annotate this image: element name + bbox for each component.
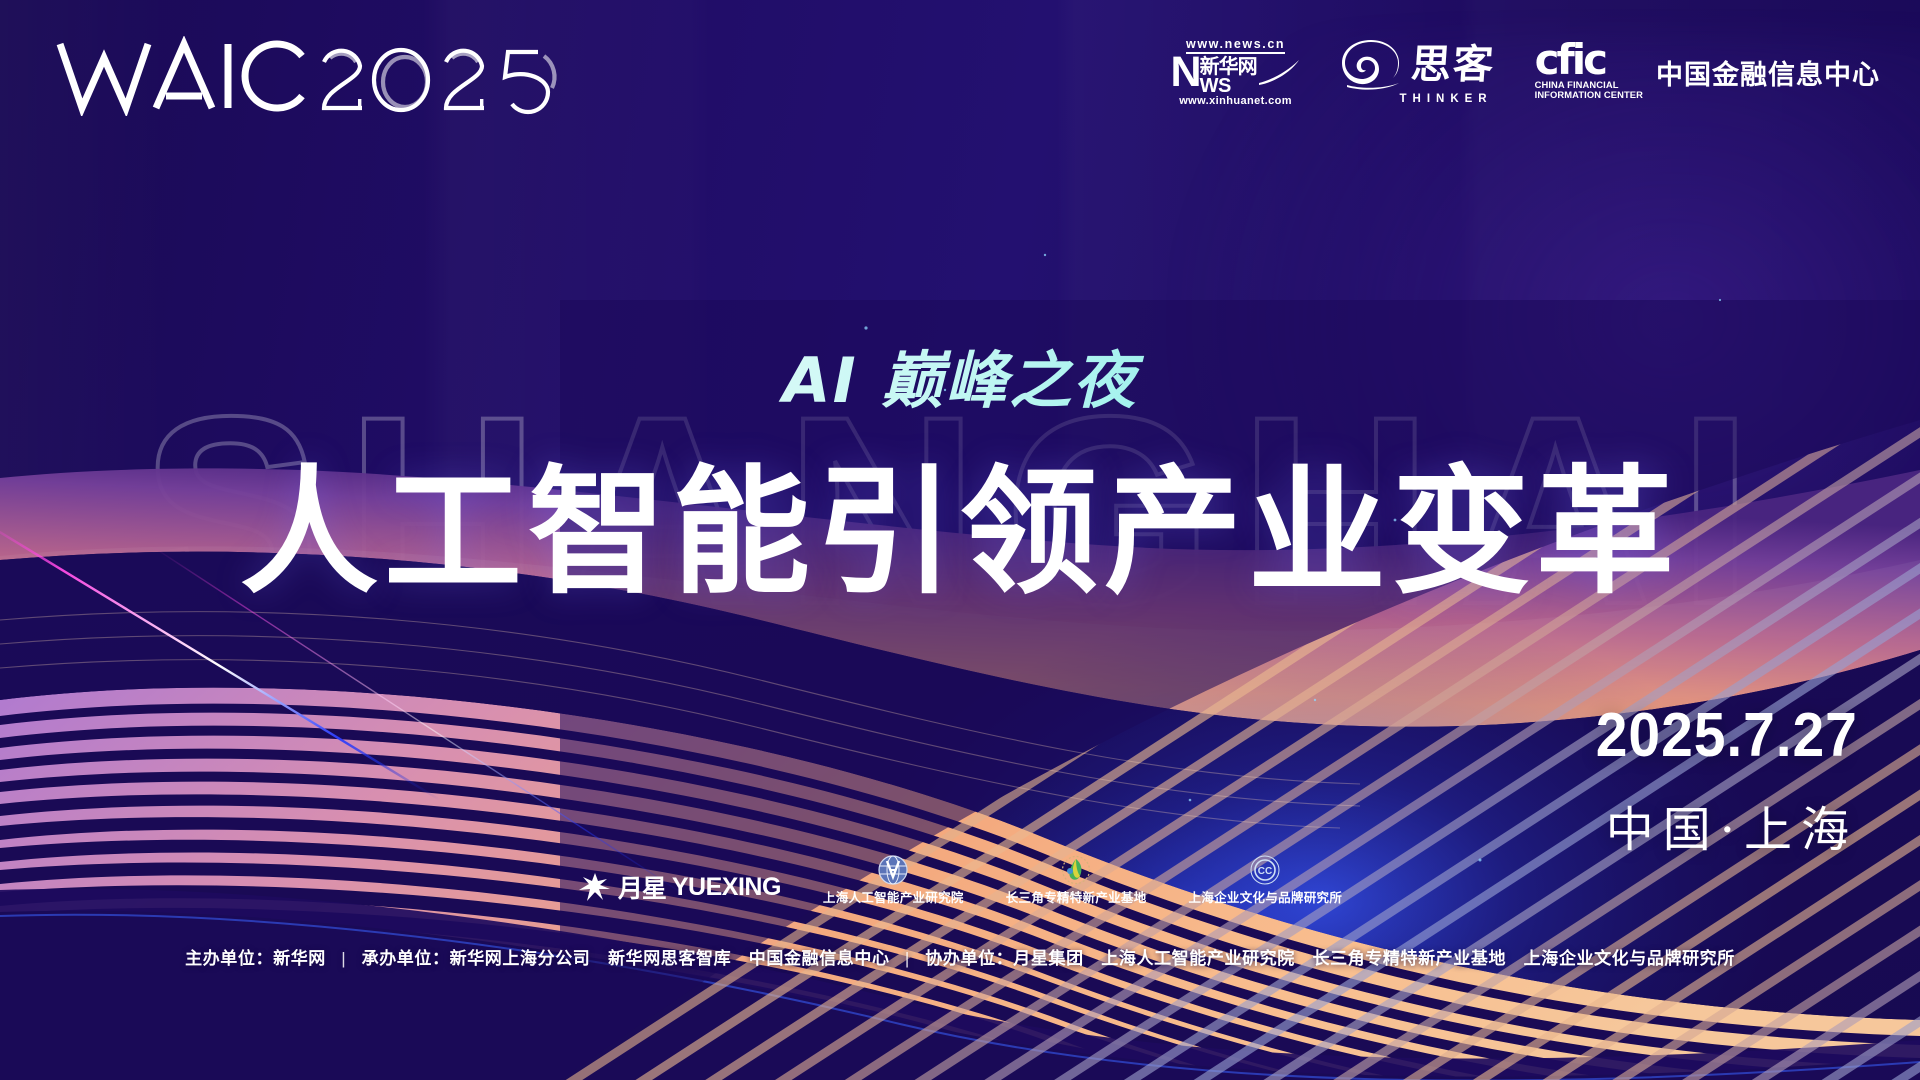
- yangtze-delta-base-emblem-icon: [1061, 855, 1091, 885]
- credits-line: 主办单位：新华网 | 承办单位：新华网上海分公司 新华网思客智库 中国金融信息中…: [0, 944, 1920, 969]
- xinhua-n-glyph: N: [1171, 56, 1200, 90]
- yuexing-en-name: YUEXING: [672, 873, 781, 902]
- sponsor-yangtze-delta-base: 长三角专精特新产业基地: [1006, 855, 1147, 906]
- yuexing-star-figure-icon: [578, 872, 612, 902]
- xinhua-url-top: www.news.cn: [1186, 38, 1285, 54]
- poster-canvas: SHANGHAI: [0, 0, 1920, 1080]
- thinker-en-name: THINKER: [1399, 93, 1492, 105]
- cfic-wordmark: cfic: [1535, 43, 1643, 77]
- credits-coorganizer-values: 月星集团 上海人工智能产业研究院 长三角专精特新产业基地 上海企业文化与品牌研究…: [1013, 949, 1735, 968]
- credits-host-value: 新华网: [273, 949, 326, 968]
- sponsor-logo-row: 月星 YUEXING 上海人工智能产业研究院: [0, 855, 1920, 906]
- event-location: 中国·上海: [1606, 790, 1858, 860]
- waic-logo-mark: [56, 36, 576, 116]
- sponsor-shanghai-ai-institute-label: 上海人工智能产业研究院: [823, 887, 964, 906]
- event-date: 2025.7.27: [1596, 700, 1858, 771]
- partner-logos: www.news.cn N 新华网 WS www.xinhuanet.com: [1171, 38, 1880, 107]
- cfic-cn-name: 中国金融信息中心: [1656, 53, 1880, 92]
- sponsor-corp-culture-brand: CC 上海企业文化与品牌研究所: [1189, 855, 1343, 906]
- thinker-cn-name: 思客: [1409, 45, 1496, 85]
- partner-thinker: 思客 THINKER: [1341, 39, 1495, 105]
- svg-text:CC: CC: [1258, 866, 1272, 877]
- xinhua-url-bottom: www.xinhuanet.com: [1179, 96, 1292, 107]
- credits-host-label: 主办单位：: [185, 949, 273, 968]
- credits-separator-1: |: [341, 949, 346, 968]
- credits-coorganizer-label: 协办单位：: [925, 949, 1013, 968]
- credits-organizer-label: 承办单位：: [362, 949, 450, 968]
- event-subtitle: AI 巅峰之夜: [0, 330, 1920, 420]
- shanghai-ai-institute-globe-icon: [878, 855, 908, 885]
- sponsor-yuexing: 月星 YUEXING: [578, 870, 781, 906]
- event-title: 人工智能引领产业变革: [0, 420, 1920, 620]
- xinhua-cn-name: 新华网: [1200, 57, 1257, 77]
- sponsor-corp-culture-brand-label: 上海企业文化与品牌研究所: [1189, 887, 1343, 906]
- poster-header: www.news.cn N 新华网 WS www.xinhuanet.com: [0, 0, 1920, 150]
- xinhua-ws-glyph: WS: [1200, 77, 1231, 95]
- partner-xinhua-news: www.news.cn N 新华网 WS www.xinhuanet.com: [1171, 38, 1301, 107]
- thinker-brush-swirl-icon: [1341, 39, 1403, 91]
- partner-cfic: cfic CHINA FINANCIAL INFORMATION CENTER …: [1535, 43, 1880, 101]
- credits-separator-2: |: [905, 949, 910, 968]
- corp-culture-brand-seal-icon: CC: [1250, 855, 1280, 885]
- sponsor-shanghai-ai-institute: 上海人工智能产业研究院: [823, 855, 964, 906]
- credits-organizer-values: 新华网上海分公司 新华网思客智库 中国金融信息中心: [450, 949, 890, 968]
- waic-logo: [56, 36, 576, 116]
- xinhua-swoosh-icon: [1257, 56, 1301, 86]
- sponsor-yangtze-delta-base-label: 长三角专精特新产业基地: [1006, 887, 1147, 906]
- cfic-sub-line2: INFORMATION CENTER: [1535, 90, 1643, 101]
- yuexing-cn-name: 月星: [618, 869, 666, 905]
